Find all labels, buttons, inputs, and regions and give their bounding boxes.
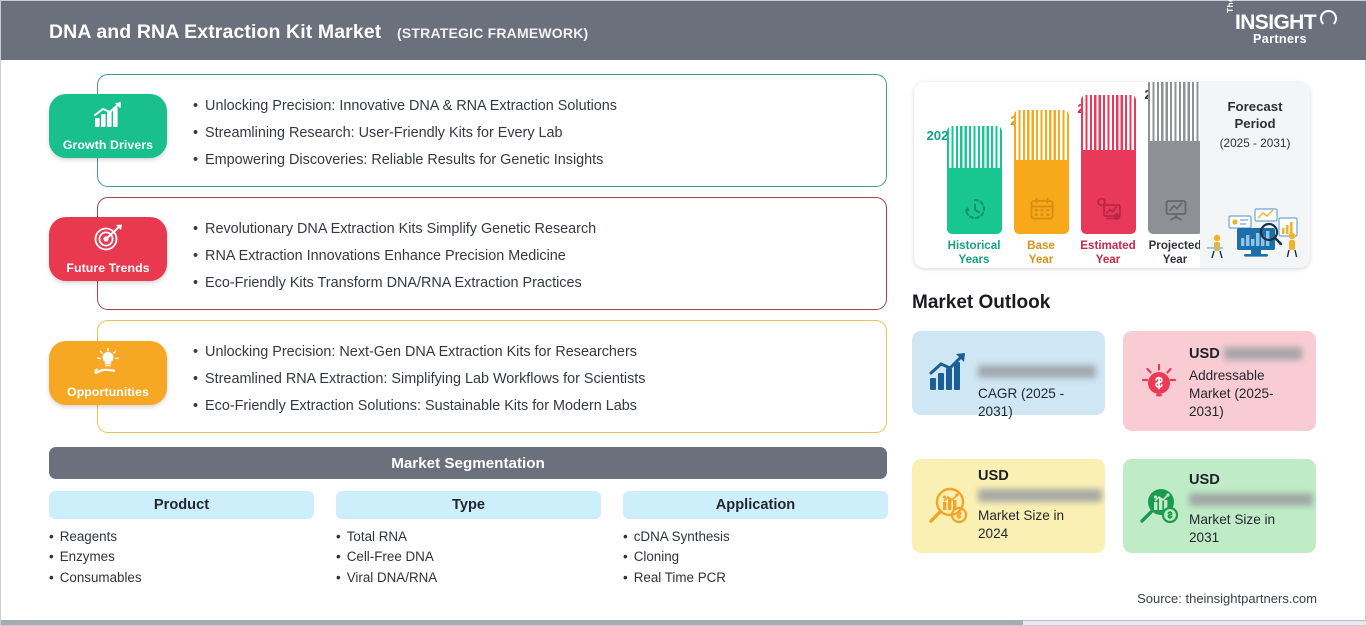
bullet-item: Eco-Friendly Kits Transform DNA/RNA Extr… — [193, 276, 596, 290]
bar-stripes — [1081, 95, 1136, 150]
card-usd-label: USD — [978, 468, 1009, 484]
target-dart-icon — [91, 224, 125, 252]
forecast-bar — [1081, 95, 1136, 234]
card-label: CAGR (2025 - 2031) — [978, 385, 1097, 421]
caption-line-1: Base — [1027, 239, 1055, 252]
bar-chart-arrow-icon — [91, 101, 125, 129]
outlook-card-market-size-2024[interactable]: USD Market Size in 2024 — [912, 459, 1105, 553]
segmentation-list-type: Total RNA Cell-Free DNA Viral DNA/RNA — [336, 530, 437, 591]
segmentation-list-product: Reagents Enzymes Consumables — [49, 530, 142, 591]
card-usd-row: USD — [978, 467, 1097, 485]
gear-chart-icon — [1095, 196, 1123, 222]
caption-line-2: Year — [1096, 253, 1121, 266]
caption-line-2: Year — [1029, 253, 1054, 266]
forecast-bar — [1148, 82, 1203, 234]
outlook-card-addressable-market[interactable]: USD Addressable Market (2025-2031) — [1123, 331, 1316, 431]
bullet-item: RNA Extraction Innovations Enhance Preci… — [193, 249, 596, 263]
page-subtitle: (STRATEGIC FRAMEWORK) — [397, 25, 588, 41]
market-outlook-title: Market Outlook — [912, 292, 1050, 314]
logo-partners-text: Partners — [1253, 32, 1307, 46]
segmentation-column-head-type: Type — [336, 491, 601, 519]
logo-ring-icon — [1320, 10, 1337, 27]
card-label: Market Size in 2024 — [978, 507, 1097, 543]
list-item: Cell-Free DNA — [336, 550, 437, 563]
growth-drivers-badge[interactable]: Growth Drivers — [49, 94, 167, 158]
list-item: Viral DNA/RNA — [336, 571, 437, 584]
list-item: Reagents — [49, 530, 142, 543]
bullet-item: Revolutionary DNA Extraction Kits Simpli… — [193, 222, 596, 236]
outlook-card-market-size-2031[interactable]: USD Market Size in 2031 — [1123, 459, 1316, 553]
bar-stripes — [1148, 82, 1203, 141]
card-value-blurred — [978, 489, 1102, 502]
opportunities-badge[interactable]: Opportunities — [49, 341, 167, 405]
logo-the-text: The — [1225, 0, 1235, 13]
card-usd-label: USD — [1189, 346, 1220, 362]
forecast-caption: Base Year — [1003, 239, 1079, 266]
card-label: Market Size in 2031 — [1189, 511, 1308, 547]
forecast-bar — [1014, 110, 1069, 234]
source-text: Source: theinsightpartners.com — [1137, 591, 1317, 606]
bullet-item: Streamlined RNA Extraction: Simplifying … — [193, 372, 645, 386]
forecast-title-line-1: Forecast — [1228, 99, 1283, 114]
list-item: Consumables — [49, 571, 142, 584]
list-item: Enzymes — [49, 550, 142, 563]
horizontal-scrollbar[interactable] — [1, 620, 1366, 625]
calendar-icon — [1028, 196, 1056, 222]
badge-label: Opportunities — [67, 386, 149, 400]
page-title: DNA and RNA Extraction Kit Market — [49, 21, 381, 44]
caption-line-2: Year — [1163, 253, 1188, 266]
card-label: Addressable Market (2025-2031) — [1189, 367, 1308, 421]
lightbulb-dollar-icon — [1137, 359, 1181, 403]
segmentation-column-head-product: Product — [49, 491, 314, 519]
badge-label: Growth Drivers — [63, 139, 153, 153]
forecast-caption: Estimated Year — [1070, 239, 1146, 266]
segmentation-column-head-application: Application — [623, 491, 888, 519]
data-analysis-illustration — [1203, 200, 1307, 262]
card-body: CAGR (2025 - 2031) — [978, 345, 1097, 421]
card-usd-row: USD — [1189, 471, 1308, 489]
bullet-item: Unlocking Precision: Innovative DNA & RN… — [193, 99, 617, 113]
market-segmentation-header: Market Segmentation — [49, 447, 887, 479]
future-trends-badge[interactable]: Future Trends — [49, 217, 167, 281]
bullet-item: Unlocking Precision: Next-Gen DNA Extrac… — [193, 345, 645, 359]
card-usd-label: USD — [1189, 472, 1220, 488]
page-header: DNA and RNA Extraction Kit Market (STRAT… — [1, 1, 1366, 60]
lightbulb-hand-icon — [91, 348, 125, 376]
growth-drivers-bullets: Unlocking Precision: Innovative DNA & RN… — [193, 99, 617, 180]
forecast-period-panel: 2021-2023 Historical Years 2024 — [914, 82, 1310, 268]
bar-stripes — [947, 126, 1002, 168]
forecast-period-block: Forecast Period (2025 - 2031) — [1200, 82, 1310, 268]
infographic-page: DNA and RNA Extraction Kit Market (STRAT… — [0, 0, 1366, 626]
bar-stripes — [1014, 110, 1069, 160]
outlook-card-cagr[interactable]: CAGR (2025 - 2031) — [912, 331, 1105, 415]
magnifier-bars-icon — [926, 484, 970, 528]
caption-line-2: Years — [959, 253, 990, 266]
forecast-period-title: Forecast Period — [1228, 99, 1283, 132]
bar-chart-arrow-icon — [926, 351, 970, 395]
card-body: USD Addressable Market (2025-2031) — [1189, 345, 1308, 421]
segmentation-list-application: cDNA Synthesis Cloning Real Time PCR — [623, 530, 730, 591]
scrollbar-thumb[interactable] — [1, 620, 1023, 625]
forecast-title-line-2: Period — [1234, 116, 1275, 131]
card-body: USD Market Size in 2024 — [978, 467, 1097, 543]
bullet-item: Empowering Discoveries: Reliable Results… — [193, 153, 617, 167]
badge-label: Future Trends — [66, 262, 149, 276]
card-value-blurred — [978, 365, 1096, 378]
presentation-chart-icon — [1162, 196, 1190, 222]
future-trends-bullets: Revolutionary DNA Extraction Kits Simpli… — [193, 222, 596, 303]
forecast-bar — [947, 126, 1002, 234]
insight-partners-logo: The INSIGHT Partners — [1225, 10, 1345, 52]
bullet-item: Streamlining Research: User-Friendly Kit… — [193, 126, 617, 140]
card-value-blurred — [1189, 493, 1313, 506]
clock-history-icon — [961, 196, 989, 222]
forecast-caption: Historical Years — [936, 239, 1012, 266]
list-item: Cloning — [623, 550, 730, 563]
card-value-blurred — [1224, 347, 1302, 360]
list-item: Real Time PCR — [623, 571, 730, 584]
magnifier-bars-icon — [1137, 484, 1181, 528]
list-item: cDNA Synthesis — [623, 530, 730, 543]
bullet-item: Eco-Friendly Extraction Solutions: Susta… — [193, 399, 645, 413]
caption-line-1: Projected — [1149, 239, 1202, 252]
opportunities-bullets: Unlocking Precision: Next-Gen DNA Extrac… — [193, 345, 645, 426]
card-body: USD Market Size in 2031 — [1189, 471, 1308, 547]
caption-line-1: Estimated — [1080, 239, 1135, 252]
caption-line-1: Historical — [948, 239, 1001, 252]
forecast-period-range: (2025 - 2031) — [1220, 136, 1291, 150]
list-item: Total RNA — [336, 530, 437, 543]
